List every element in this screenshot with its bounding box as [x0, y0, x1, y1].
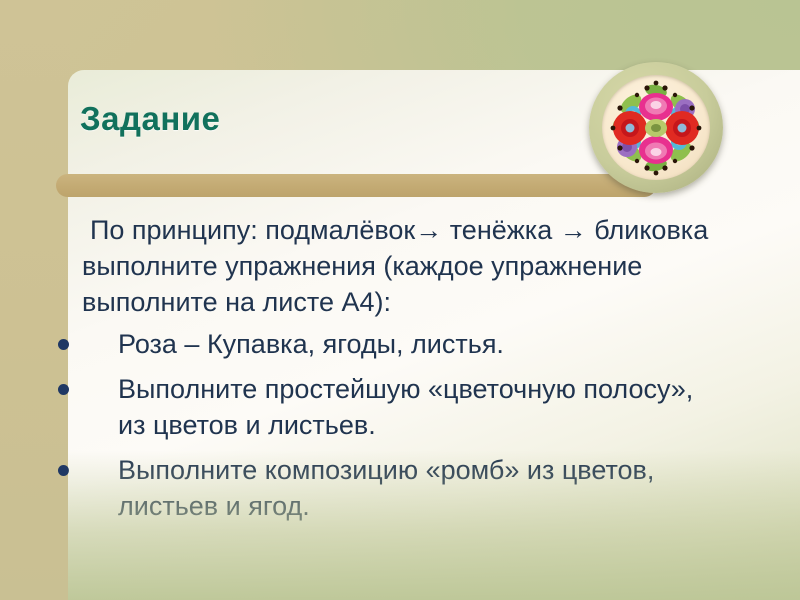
- list-item: Роза – Купавка, ягоды, листья.: [82, 326, 722, 362]
- list-item: Выполните композицию «ромб» из цветов, л…: [82, 452, 722, 524]
- bullet-dot-icon: [58, 339, 69, 350]
- list-item-label: Выполните простейшую «цветочную полосу»,…: [118, 374, 693, 440]
- slide-canvas: Задание По принципу: подмалёвок→ тенёжка…: [0, 0, 800, 600]
- bullet-dot-icon: [58, 465, 69, 476]
- title-underline-bar: [56, 174, 656, 197]
- body-content: По принципу: подмалёвок→ тенёжка → блико…: [82, 212, 722, 533]
- bullet-dot-icon: [58, 384, 69, 395]
- list-item: Выполните простейшую «цветочную полосу»,…: [82, 371, 722, 443]
- task-list: Роза – Купавка, ягоды, листья. Выполните…: [82, 326, 722, 524]
- list-item-label: Роза – Купавка, ягоды, листья.: [118, 329, 504, 359]
- left-color-band: [0, 0, 70, 600]
- intro-paragraph: По принципу: подмалёвок→ тенёжка → блико…: [82, 212, 722, 320]
- floral-ornament-icon: [589, 62, 723, 193]
- page-title: Задание: [80, 100, 220, 138]
- list-item-label: Выполните композицию «ромб» из цветов, л…: [118, 455, 654, 521]
- decorative-painted-plate-image: [589, 62, 723, 193]
